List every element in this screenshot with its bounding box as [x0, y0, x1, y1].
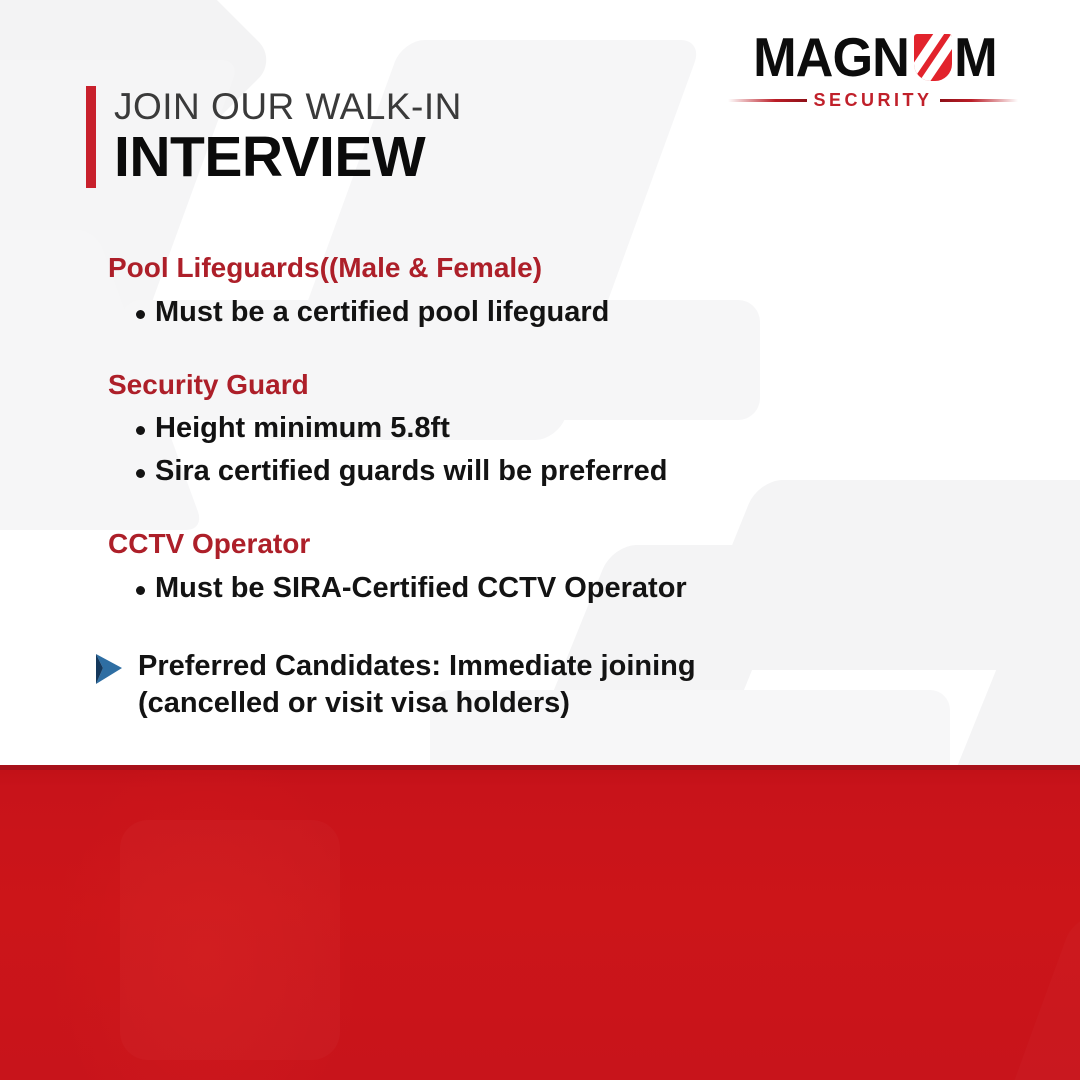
job-requirement: Sira certified guards will be preferred — [108, 450, 828, 493]
headline-accent-bar — [86, 86, 96, 188]
note-line-1: Preferred Candidates: Immediate joining — [138, 648, 696, 685]
job-requirements-list: Must be a certified pool lifeguard — [108, 291, 828, 334]
job-title: Pool Lifeguards((Male & Female) — [108, 251, 828, 285]
magnum-security-logo: MAGN M SECURITY — [728, 30, 1018, 111]
band-ghost-shape-right — [1005, 915, 1080, 1080]
job-listings: Pool Lifeguards((Male & Female) Must be … — [108, 251, 828, 609]
job-requirement: Height minimum 5.8ft — [108, 407, 828, 450]
logo-wordmark: MAGN M — [728, 30, 1018, 84]
job-section-security-guard: Security Guard Height minimum 5.8ft Sira… — [108, 368, 828, 493]
note-line-2: (cancelled or visit visa holders) — [138, 685, 696, 722]
job-section-cctv-operator: CCTV Operator Must be SIRA-Certified CCT… — [108, 527, 828, 610]
preferred-candidates-note: Preferred Candidates: Immediate joining … — [94, 648, 774, 722]
bottom-red-band — [0, 765, 1080, 1080]
logo-subtitle-row: SECURITY — [728, 89, 1018, 111]
logo-subtitle: SECURITY — [814, 90, 933, 111]
note-text-block: Preferred Candidates: Immediate joining … — [138, 648, 696, 722]
arrow-right-icon — [94, 652, 124, 686]
band-top-edge — [0, 765, 1080, 770]
recruitment-poster: MAGN M SECURITY JOIN OUR WALK-IN INTERVI… — [0, 0, 1080, 1080]
job-requirements-list: Height minimum 5.8ft Sira certified guar… — [108, 407, 828, 493]
job-section-pool-lifeguards: Pool Lifeguards((Male & Female) Must be … — [108, 251, 828, 334]
shield-icon — [914, 34, 952, 81]
headline-text-block: JOIN OUR WALK-IN INTERVIEW — [114, 86, 462, 188]
page-title: JOIN OUR WALK-IN INTERVIEW — [86, 86, 462, 188]
job-requirement: Must be SIRA-Certified CCTV Operator — [108, 567, 828, 610]
logo-rule-right — [940, 99, 1019, 102]
band-ghost-shape-left — [120, 820, 340, 1060]
job-requirement: Must be a certified pool lifeguard — [108, 291, 828, 334]
logo-rule-left — [728, 99, 807, 102]
logo-text-left: MAGN — [753, 30, 909, 85]
job-title: CCTV Operator — [108, 527, 828, 561]
logo-text-right: M — [954, 30, 997, 85]
headline-line-2: INTERVIEW — [114, 128, 462, 188]
job-title: Security Guard — [108, 368, 828, 402]
job-requirements-list: Must be SIRA-Certified CCTV Operator — [108, 567, 828, 610]
headline-line-1: JOIN OUR WALK-IN — [114, 88, 462, 126]
